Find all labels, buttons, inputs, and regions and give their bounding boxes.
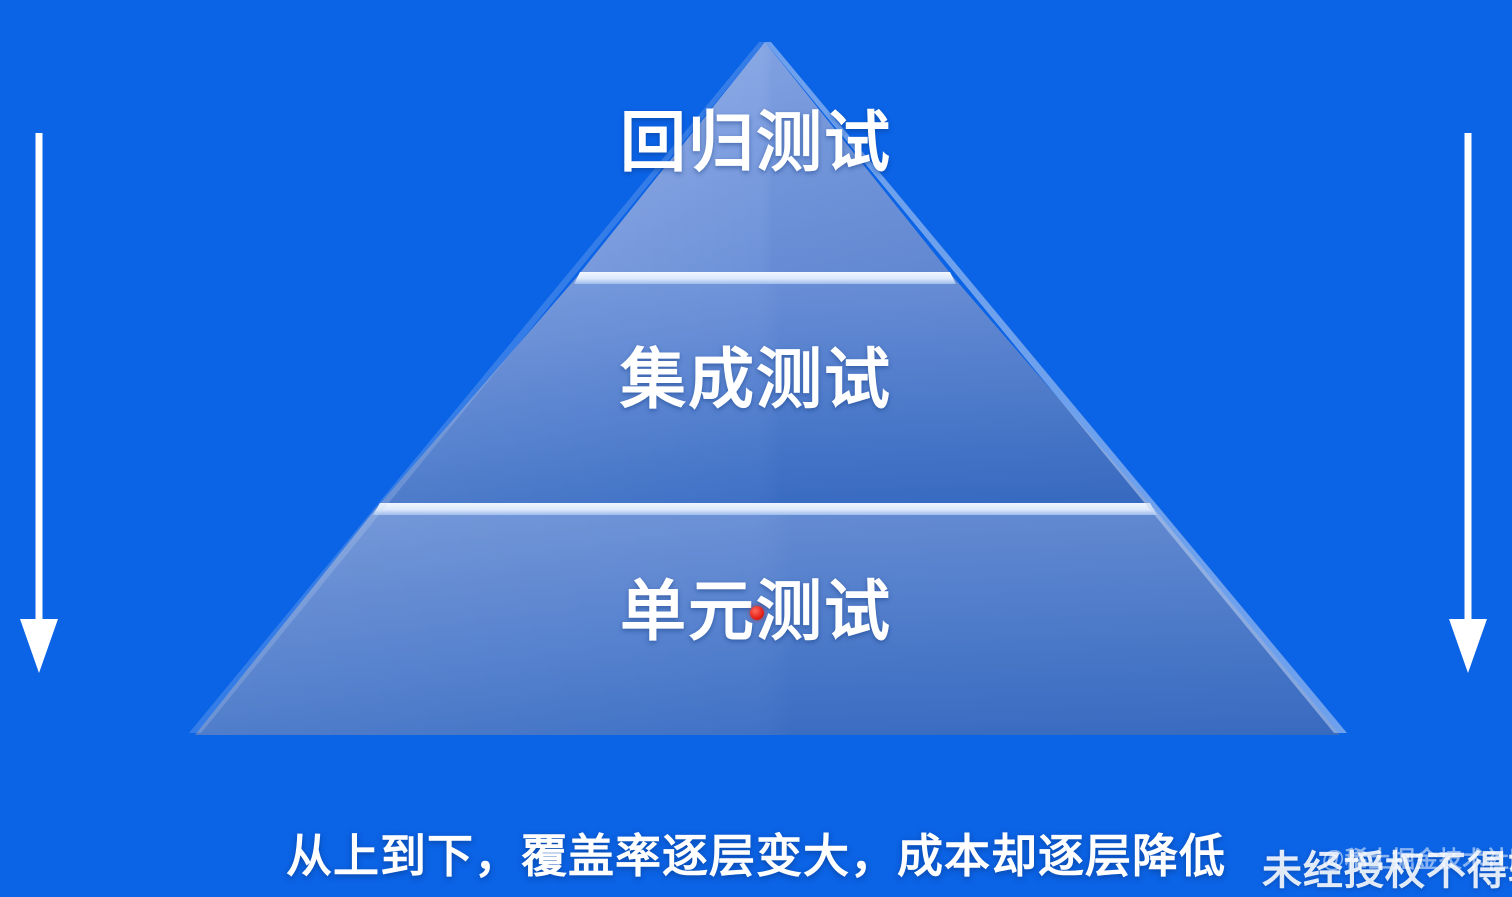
red-pointer-dot <box>750 606 764 620</box>
slide-canvas: 回归测试 集成测试 单元测试 从上到下，覆盖率逐层变大，成本却逐层降低 未经授权… <box>0 0 1512 897</box>
pyramid-tier-label-regression: 回归测试 <box>0 103 1512 181</box>
brand-watermark: @稀土掘金技术社区 <box>1322 845 1512 873</box>
pyramid-tier-label-integration: 集成测试 <box>0 340 1512 418</box>
